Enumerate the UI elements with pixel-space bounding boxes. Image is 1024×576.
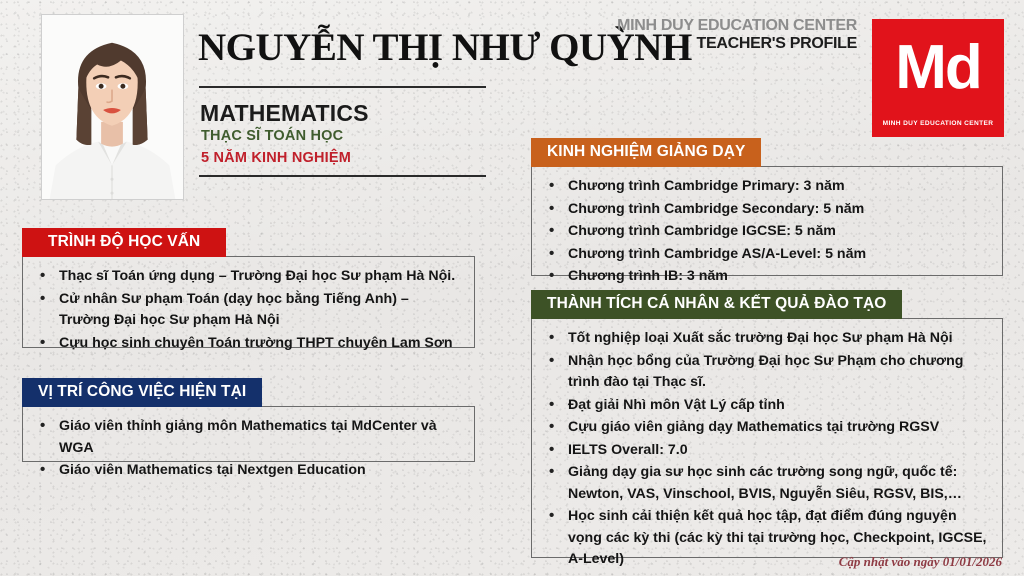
list-item: Chương trình Cambridge IGCSE: 5 năm: [542, 221, 990, 243]
list-item: Thạc sĩ Toán ứng dụng – Trường Đại học S…: [33, 266, 462, 288]
list-item: Chương trình Cambridge AS/A-Level: 5 năm: [542, 244, 990, 266]
subject-title: MATHEMATICS: [200, 100, 369, 127]
updated-date-note: Cập nhật vào ngày 01/01/2026: [839, 554, 1002, 570]
list-item: Cựu học sinh chuyên Toán trường THPT chu…: [33, 333, 462, 355]
name-divider-top: [199, 86, 486, 88]
list-item: Chương trình Cambridge Primary: 3 năm: [542, 176, 990, 198]
section-education: TRÌNH ĐỘ HỌC VẤN Thạc sĩ Toán ứng dụng –…: [22, 228, 475, 348]
teacher-name: NGUYỄN THỊ NHƯ QUỲNH: [198, 26, 668, 70]
section-current-position-body: Giáo viên thỉnh giảng môn Mathematics tạ…: [22, 406, 475, 462]
section-achievements: THÀNH TÍCH CÁ NHÂN & KẾT QUẢ ĐÀO TẠO Tốt…: [531, 290, 1003, 558]
list-item: Giáo viên thỉnh giảng môn Mathematics tạ…: [33, 416, 462, 459]
teacher-portrait-photo: [41, 14, 184, 200]
list-item: Giáo viên Mathematics tại Nextgen Educat…: [33, 460, 462, 482]
center-name: MINH DUY EDUCATION CENTER: [617, 17, 857, 35]
list-item: IELTS Overall: 7.0: [542, 440, 990, 462]
minh-duy-logo: Md MINH DUY EDUCATION CENTER: [872, 19, 1004, 137]
profile-kicker: TEACHER'S PROFILE: [697, 35, 858, 53]
logo-monogram: Md: [872, 37, 1004, 99]
portrait-illustration: [42, 15, 183, 199]
logo-caption: MINH DUY EDUCATION CENTER: [872, 120, 1004, 127]
teacher-profile-slide: NGUYỄN THỊ NHƯ QUỲNH MATHEMATICS THẠC SĨ…: [0, 0, 1024, 576]
list-item: Đạt giải Nhì môn Vật Lý cấp tỉnh: [542, 395, 990, 417]
list-item: Chương trình Cambridge Secondary: 5 năm: [542, 199, 990, 221]
section-education-body: Thạc sĩ Toán ứng dụng – Trường Đại học S…: [22, 256, 475, 348]
teaching-experience-list: Chương trình Cambridge Primary: 3 năm Ch…: [542, 176, 990, 288]
section-achievements-body: Tốt nghiệp loại Xuất sắc trường Đại học …: [531, 318, 1003, 558]
degree-label: THẠC SĨ TOÁN HỌC: [201, 128, 343, 144]
section-current-position-title: VỊ TRÍ CÔNG VIỆC HIỆN TẠI: [22, 378, 262, 407]
education-list: Thạc sĩ Toán ứng dụng – Trường Đại học S…: [33, 266, 462, 354]
name-divider-bottom: [199, 175, 486, 177]
achievements-list: Tốt nghiệp loại Xuất sắc trường Đại học …: [542, 328, 990, 571]
current-position-list: Giáo viên thỉnh giảng môn Mathematics tạ…: [33, 416, 462, 482]
list-item: Cử nhân Sư phạm Toán (dạy học bằng Tiếng…: [33, 289, 462, 332]
list-item: Chương trình IB: 3 năm: [542, 266, 990, 288]
section-teaching-experience-body: Chương trình Cambridge Primary: 3 năm Ch…: [531, 166, 1003, 276]
section-achievements-title: THÀNH TÍCH CÁ NHÂN & KẾT QUẢ ĐÀO TẠO: [531, 290, 902, 319]
list-item: Tốt nghiệp loại Xuất sắc trường Đại học …: [542, 328, 990, 350]
list-item: Cựu giáo viên giảng dạy Mathematics tại …: [542, 417, 990, 439]
experience-years-label: 5 NĂM KINH NGHIỆM: [201, 150, 351, 166]
list-item: Nhận học bổng của Trường Đại học Sư Phạm…: [542, 351, 990, 394]
section-current-position: VỊ TRÍ CÔNG VIỆC HIỆN TẠI Giáo viên thỉn…: [22, 378, 475, 462]
section-teaching-experience: KINH NGHIỆM GIẢNG DẠY Chương trình Cambr…: [531, 138, 1003, 276]
list-item: Giảng dạy gia sư học sinh các trường son…: [542, 462, 990, 505]
section-education-title: TRÌNH ĐỘ HỌC VẤN: [22, 228, 226, 257]
section-teaching-experience-title: KINH NGHIỆM GIẢNG DẠY: [531, 138, 761, 167]
